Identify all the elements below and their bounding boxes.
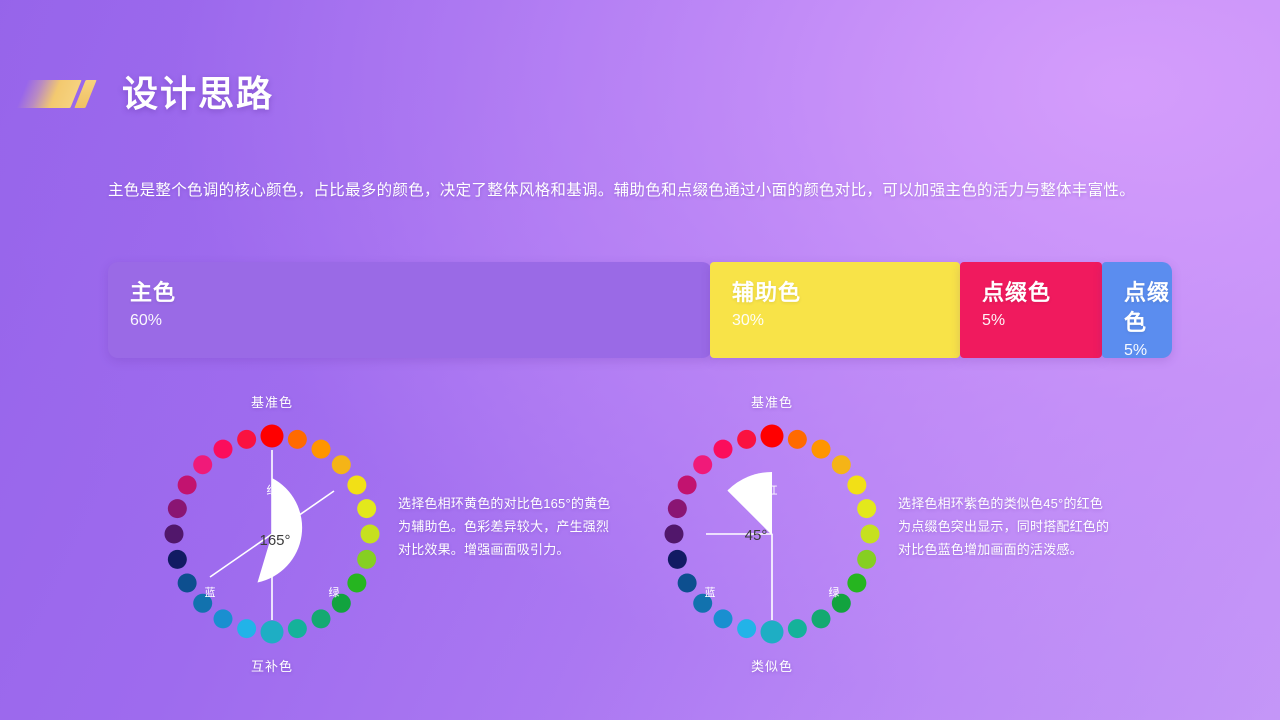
segment-name: 主色 — [130, 278, 712, 308]
hue-dot — [347, 574, 366, 593]
hue-dot — [812, 440, 831, 459]
hue-dot — [737, 619, 756, 638]
axis-label-red: 红 — [767, 484, 778, 497]
angle-wedge-165 — [258, 478, 303, 583]
hue-dot — [678, 476, 697, 495]
hue-dot — [761, 621, 784, 644]
segment-percent: 5% — [1124, 338, 1172, 364]
hue-dot — [168, 550, 187, 569]
hue-dot — [847, 476, 866, 495]
hue-dot — [857, 550, 876, 569]
hue-dot — [693, 455, 712, 474]
proportion-segment-secondary: 辅助色 30% — [710, 262, 960, 358]
hue-dot — [237, 430, 256, 449]
hue-dot — [347, 476, 366, 495]
hue-dot — [812, 609, 831, 628]
slide-root: 设计思路 主色是整个色调的核心颜色，占比最多的颜色，决定了整体风格和基调。辅助色… — [0, 0, 1280, 720]
hue-dot — [761, 425, 784, 448]
segment-percent: 60% — [130, 308, 712, 334]
hue-dot — [861, 525, 880, 544]
hue-dot — [214, 440, 233, 459]
segment-name: 辅助色 — [732, 278, 960, 308]
hue-dot — [165, 525, 184, 544]
wheel-bottom-label: 类似色 — [652, 656, 892, 675]
intro-paragraph: 主色是整个色调的核心颜色，占比最多的颜色，决定了整体风格和基调。辅助色和点缀色通… — [108, 176, 1178, 205]
hue-dot — [832, 455, 851, 474]
proportion-segment-main: 主色 60% — [108, 262, 712, 358]
wheel-description-right: 选择色相环紫色的类似色45°的红色为点缀色突出显示，同时搭配红色的对比色蓝色增加… — [898, 492, 1113, 561]
wheel-description-left: 选择色相环黄色的对比色165°的黄色为辅助色。色彩差异较大，产生强烈对比效果。增… — [398, 492, 613, 561]
segment-name: 点缀色 — [982, 278, 1102, 308]
hue-dot — [261, 621, 284, 644]
segment-name: 点缀色 — [1124, 278, 1172, 338]
axis-label-blue: 蓝 — [705, 586, 716, 599]
hue-dot — [714, 440, 733, 459]
hue-dot — [312, 609, 331, 628]
hue-dot — [288, 430, 307, 449]
wheel-top-label: 基准色 — [152, 392, 392, 411]
hue-dot — [357, 499, 376, 518]
wheel-angle-value: 45° — [745, 527, 768, 544]
axis-label-blue: 蓝 — [205, 586, 216, 599]
proportion-segment-accent-2: 点缀色 5% — [1102, 262, 1172, 358]
title-row: 设计思路 — [22, 62, 274, 120]
hue-dot — [178, 574, 197, 593]
wheel-top-label: 基准色 — [652, 392, 892, 411]
segment-percent: 30% — [732, 308, 960, 334]
hue-dot — [737, 430, 756, 449]
color-proportion-bar: 主色 60% 辅助色 30% 点缀色 5% 点缀色 5% — [108, 262, 1172, 358]
hue-dot — [168, 499, 187, 518]
hue-dot — [214, 609, 233, 628]
color-wheel-diagram-right: 45° 红 蓝 绿 — [652, 414, 892, 654]
hue-dot — [788, 430, 807, 449]
hue-dot — [665, 525, 684, 544]
hue-dot — [237, 619, 256, 638]
hue-dot — [332, 455, 351, 474]
axis-label-green: 绿 — [829, 585, 840, 599]
hue-dot — [714, 609, 733, 628]
hue-dot — [193, 455, 212, 474]
proportion-segment-accent-1: 点缀色 5% — [960, 262, 1102, 358]
hue-dot — [261, 425, 284, 448]
wheel-angle-value: 165° — [259, 532, 290, 549]
hue-dot — [678, 574, 697, 593]
angle-wedge-45 — [728, 472, 772, 534]
hue-dot — [668, 550, 687, 569]
page-title: 设计思路 — [122, 65, 274, 117]
segment-percent: 5% — [982, 308, 1102, 334]
hue-dot — [668, 499, 687, 518]
wheel-bottom-label: 互补色 — [152, 656, 392, 675]
hue-dot — [178, 476, 197, 495]
hue-dot — [847, 574, 866, 593]
hue-dot — [857, 499, 876, 518]
color-wheel-diagram-left: 165° 红 蓝 绿 — [152, 414, 392, 654]
axis-label-green: 绿 — [329, 585, 340, 599]
axis-label-red: 红 — [267, 484, 278, 497]
hue-dot — [788, 619, 807, 638]
hue-dot — [357, 550, 376, 569]
hue-dot — [361, 525, 380, 544]
title-accent-decoration — [22, 80, 94, 108]
hue-dot — [312, 440, 331, 459]
hue-dot — [288, 619, 307, 638]
accent-bar-shape — [16, 80, 81, 108]
